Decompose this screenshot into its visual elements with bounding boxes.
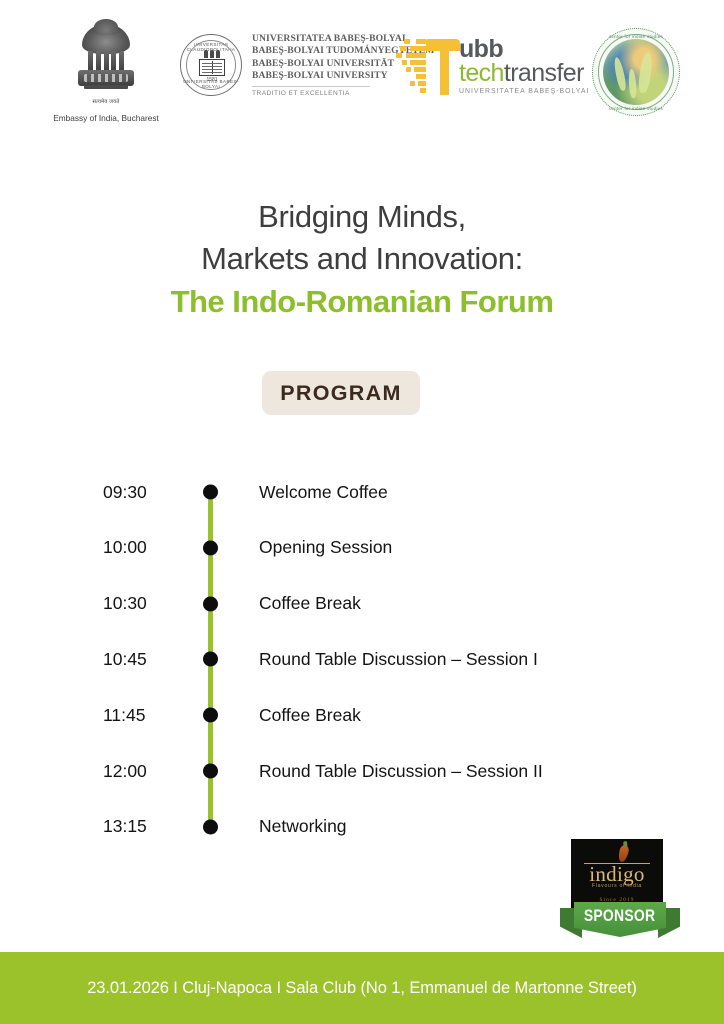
emblem-plinth (84, 85, 128, 89)
techtransfer-subtitle: UNIVERSITATEA BABEŞ-BOLYAI (459, 88, 589, 95)
ubb-seal-inner: 1581 (197, 50, 227, 80)
emblem-lion-capital (82, 24, 130, 54)
timeline-dot-icon (203, 819, 218, 834)
ribbon-banner: SPONSOR (574, 902, 666, 937)
timeline-item: 13:15Networking (0, 813, 724, 841)
timeline-item: 10:30Coffee Break (0, 590, 724, 618)
techtransfer-word-ubb: ubb (459, 38, 589, 61)
footer-text: 23.01.2026 I Cluj-Napoca I Sala Club (No… (87, 979, 637, 998)
emblem-motto: सत्यमेव जयते (46, 97, 166, 105)
timeline-item-label: Round Table Discussion – Session II (259, 761, 543, 782)
ubb-seal-icon: UNIVERSITAS CLAUDIOPOLITANA 1581 UNIVERS… (180, 34, 242, 96)
partner-logo-strip: सत्यमेव जयते Embassy of India, Bucharest… (0, 0, 724, 140)
page-title: Bridging Minds, Markets and Innovation: … (0, 196, 724, 324)
timeline-dot-icon (203, 652, 218, 667)
ubb-crown-icon (197, 50, 227, 58)
timeline-item-time: 12:00 (103, 761, 198, 782)
timeline-item: 10:00Opening Session (0, 534, 724, 562)
timeline-item-time: 10:30 (103, 593, 198, 614)
ubb-open-book-icon (199, 59, 225, 76)
timeline-dot-icon (203, 485, 218, 500)
ubb-techtransfer-logo: ubb techtransfer UNIVERSITATEA BABEŞ-BOL… (396, 33, 589, 95)
techtransfer-word-techtransfer: techtransfer (459, 61, 589, 86)
timeline-item-label: Coffee Break (259, 593, 361, 614)
ubb-seal-arc-top: UNIVERSITAS CLAUDIOPOLITANA (181, 42, 241, 52)
title-line-2: Markets and Innovation: (0, 238, 724, 280)
seal-arc-bottom-text: center for indian studies (592, 106, 680, 111)
timeline-item-time: 09:30 (103, 482, 198, 503)
techtransfer-wordmark: ubb techtransfer UNIVERSITATEA BABEŞ-BOL… (459, 33, 589, 95)
sponsor-badge: indigo Flavours of India Since 2019 SPON… (560, 839, 680, 942)
indian-studies-center-logo: center for indian studies center for ind… (592, 28, 680, 116)
chili-pepper-icon (617, 844, 630, 863)
techtransfer-t-mark-icon (396, 33, 462, 95)
techtransfer-t-stem (440, 49, 449, 95)
timeline-dot-icon (203, 708, 218, 723)
event-program-poster: सत्यमेव जयते Embassy of India, Bucharest… (0, 0, 724, 1024)
timeline-item-time: 11:45 (103, 705, 198, 726)
ubb-seal-arc-bottom: UNIVERSITAS BABES-BOLYAI (181, 79, 241, 89)
schedule-timeline: 09:30Welcome Coffee10:00Opening Session1… (0, 470, 724, 850)
timeline-dot-icon (203, 540, 218, 555)
timeline-item-time: 10:45 (103, 649, 198, 670)
timeline-item: 09:30Welcome Coffee (0, 478, 724, 506)
embassy-caption: Embassy of India, Bucharest (46, 113, 166, 123)
program-badge-label: PROGRAM (280, 381, 401, 406)
embassy-of-india-logo: सत्यमेव जयते Embassy of India, Bucharest (46, 24, 166, 123)
techtransfer-word-transfer: transfer (504, 59, 584, 87)
timeline-item-label: Networking (259, 816, 347, 837)
seal-arc-top-text: center for indian studies (592, 34, 680, 39)
techtransfer-word-tech: tech (459, 59, 504, 87)
title-line-3-accent: The Indo-Romanian Forum (0, 280, 724, 324)
timeline-item-label: Welcome Coffee (259, 482, 388, 503)
timeline-item-label: Opening Session (259, 537, 392, 558)
timeline-item-time: 13:15 (103, 816, 198, 837)
program-badge: PROGRAM (262, 371, 420, 415)
indigo-restaurant-logo: indigo Flavours of India Since 2019 (571, 839, 663, 911)
timeline-dot-icon (203, 764, 218, 779)
divider (252, 86, 370, 87)
timeline-item: 12:00Round Table Discussion – Session II (0, 757, 724, 785)
seal-painted-artwork (603, 39, 669, 105)
emblem-abacus (78, 70, 134, 86)
india-state-emblem-icon (76, 24, 136, 96)
sponsor-ribbon: SPONSOR (560, 902, 680, 942)
timeline-item: 10:45Round Table Discussion – Session I (0, 645, 724, 673)
indigo-tagline: Flavours of India (571, 883, 663, 889)
timeline-item-time: 10:00 (103, 537, 198, 558)
timeline-item-label: Round Table Discussion – Session I (259, 649, 538, 670)
event-details-footer: 23.01.2026 I Cluj-Napoca I Sala Club (No… (0, 952, 724, 1024)
sponsor-ribbon-label: SPONSOR (584, 906, 655, 926)
timeline-dot-icon (203, 596, 218, 611)
title-line-1: Bridging Minds, (0, 196, 724, 238)
timeline-item: 11:45Coffee Break (0, 701, 724, 729)
timeline-item-label: Coffee Break (259, 705, 361, 726)
ubb-seal-year: 1581 (197, 77, 227, 83)
